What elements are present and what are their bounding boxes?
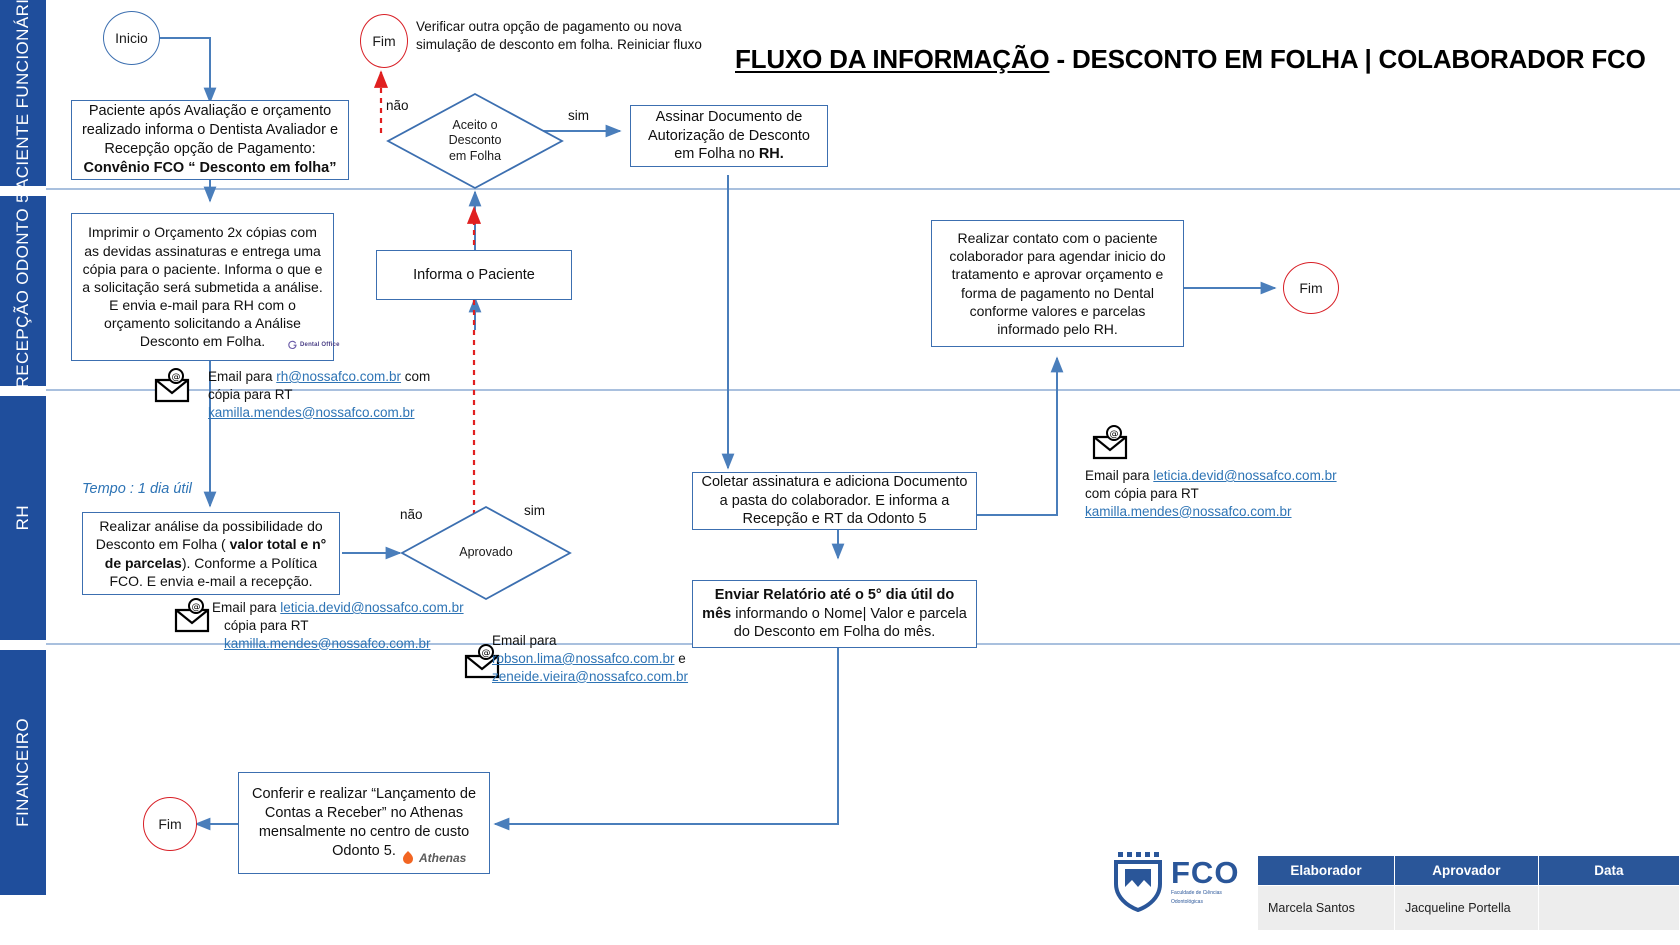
dental-office-mark [287, 340, 297, 350]
email-note-mid: com cópia para RT [1085, 486, 1199, 501]
label-tempo-1-dia-util: Tempo : 1 dia útil [82, 481, 192, 497]
note-text: Verificar outra opção de pagamento ou no… [416, 19, 702, 52]
process-imprimir-orcamento[interactable]: Imprimir o Orçamento 2x cópias com as de… [71, 213, 334, 361]
svg-text:@: @ [172, 373, 181, 383]
fco-shield-icon [1112, 850, 1164, 912]
athenas-logo: Athenas [400, 850, 466, 866]
process-informa-o-paciente[interactable]: Informa o Paciente [376, 250, 572, 300]
end-terminator-fim-top[interactable]: Fim [360, 14, 408, 68]
process-realizar-contato-paciente[interactable]: Realizar contato com o paciente colabora… [931, 220, 1184, 347]
decision-label: Aprovado [400, 505, 572, 601]
page-title-rest: - DESCONTO EM FOLHA | COLABORADOR FCO [1049, 44, 1645, 74]
process-coletar-assinatura[interactable]: Coletar assinatura e adiciona Documento … [692, 472, 977, 530]
email-icon: @ [152, 368, 192, 404]
terminator-label: Fim [1299, 280, 1322, 296]
lane-header-recepcao-odonto-5: RECEPÇÃO ODONTO 5 [0, 196, 46, 386]
lane-header-rh: RH [0, 396, 46, 640]
process-text: informando o Nome| Valor e parcela do De… [734, 606, 967, 641]
fco-wordmark: FCO [1171, 857, 1239, 888]
process-text-bold: Convênio FCO “ Desconto em folha” [84, 160, 337, 176]
decision-line-1: Aceito o [449, 118, 502, 134]
lane-label: PACIENTE FUNCIONÁRIO [13, 0, 33, 201]
email-note-prefix: Email para [208, 369, 276, 384]
svg-text:@: @ [1110, 430, 1119, 440]
terminator-label: Inicio [115, 30, 148, 46]
email-address-link-2[interactable]: kamilla.mendes@nossafco.com.br [1085, 504, 1292, 519]
decision-aprovado[interactable]: Aprovado [400, 505, 572, 601]
note-email-rh: Email para rh@nossafco.com.br com cópia … [208, 368, 440, 421]
note-email-leticia-right: Email para leticia.devid@nossafco.com.br… [1085, 467, 1395, 520]
process-text: Imprimir o Orçamento 2x cópias com as de… [80, 223, 325, 350]
dental-office-logo: Dental Office [287, 340, 340, 350]
email-address-link-2[interactable]: kamilla.mendes@nossafco.com.br [212, 636, 431, 651]
email-address-link[interactable]: rh@nossafco.com.br [276, 369, 401, 384]
process-text-bold: RH. [759, 146, 784, 162]
svg-text:@: @ [192, 603, 201, 613]
decision-aceito-desconto-em-folha[interactable]: Aceito o Desconto em Folha [386, 92, 564, 190]
email-note-prefix: Email para [492, 633, 557, 648]
flowchart-canvas: PACIENTE FUNCIONÁRIO RECEPÇÃO ODONTO 5 R… [0, 0, 1680, 945]
end-terminator-fim-bottom[interactable]: Fim [143, 797, 197, 851]
decision-line-3: em Folha [449, 149, 502, 165]
dental-office-label: Dental Office [300, 342, 340, 348]
fco-subtitle-1: Faculdade de Ciências [1171, 890, 1239, 896]
lane-label: RECEPÇÃO ODONTO 5 [13, 193, 33, 388]
signature-table: Elaborador Aprovador Data Marcela Santos… [1257, 855, 1680, 931]
cell-data[interactable] [1538, 886, 1679, 931]
athenas-mark [400, 850, 416, 866]
decision-label: Aceito o Desconto em Folha [386, 92, 564, 190]
process-text: Informa o Paciente [385, 266, 563, 285]
table-row: Marcela Santos Jacqueline Portella [1258, 886, 1680, 931]
lane-label: FINANCEIRO [13, 718, 33, 827]
email-icon: @ [1090, 425, 1130, 461]
column-header-elaborador: Elaborador [1258, 856, 1395, 886]
terminator-label: Fim [372, 33, 395, 49]
column-header-aprovador: Aprovador [1394, 856, 1538, 886]
email-note-mid: e [675, 651, 686, 666]
note-verificar-outra-opcao: Verificar outra opção de pagamento ou no… [416, 18, 706, 54]
page-title-underlined: FLUXO DA INFORMAÇÃO [735, 44, 1049, 74]
process-enviar-relatorio[interactable]: Enviar Relatório até o 5° dia útil do mê… [692, 580, 977, 648]
process-assinar-documento-autorizacao[interactable]: Assinar Documento de Autorização de Desc… [630, 105, 828, 167]
note-email-leticia-rh: Email para leticia.devid@nossafco.com.br… [212, 599, 492, 652]
process-paciente-apos-avaliacao[interactable]: Paciente após Avaliação e orçamento real… [71, 100, 349, 180]
email-note-prefix: Email para [1085, 468, 1153, 483]
svg-text:@: @ [482, 649, 491, 659]
athenas-label: Athenas [419, 851, 466, 865]
start-terminator-inicio[interactable]: Inicio [103, 11, 160, 65]
email-address-link-2[interactable]: kamilla.mendes@nossafco.com.br [208, 405, 415, 420]
email-note-mid: cópia para RT [212, 618, 309, 633]
table-header-row: Elaborador Aprovador Data [1258, 856, 1680, 886]
process-text: Realizar contato com o paciente colabora… [940, 229, 1175, 338]
edge-label-sim-top: sim [568, 108, 589, 123]
page-title: FLUXO DA INFORMAÇÃO - DESCONTO EM FOLHA … [735, 44, 1646, 75]
lane-header-paciente-funcionario: PACIENTE FUNCIONÁRIO [0, 0, 46, 186]
lane-divider-1 [46, 188, 1680, 190]
email-address-link[interactable]: leticia.devid@nossafco.com.br [1153, 468, 1336, 483]
process-realizar-analise-desconto[interactable]: Realizar análise da possibilidade do Des… [82, 512, 340, 595]
fco-logo: FCO Faculdade de Ciências Odontológicas [1112, 850, 1239, 912]
terminator-label: Fim [158, 816, 181, 832]
tempo-text: Tempo : 1 dia útil [82, 481, 192, 497]
decision-line-2: Desconto [449, 133, 502, 149]
cell-elaborador[interactable]: Marcela Santos [1258, 886, 1395, 931]
cell-aprovador[interactable]: Jacqueline Portella [1394, 886, 1538, 931]
process-text: Assinar Documento de Autorização de Desc… [648, 109, 810, 163]
email-address-link[interactable]: leticia.devid@nossafco.com.br [280, 600, 463, 615]
process-text: Coletar assinatura e adiciona Documento … [701, 473, 968, 530]
email-note-prefix: Email para [212, 600, 280, 615]
email-address-link[interactable]: robson.lima@nossafco.com.br [492, 651, 675, 666]
fco-subtitle-2: Odontológicas [1171, 899, 1239, 905]
lane-header-financeiro: FINANCEIRO [0, 650, 46, 895]
email-icon: @ [172, 598, 212, 634]
column-header-data: Data [1538, 856, 1679, 886]
process-text: Paciente após Avaliação e orçamento real… [82, 103, 338, 157]
end-terminator-fim-right[interactable]: Fim [1283, 262, 1339, 314]
email-address-link-2[interactable]: zeneide.vieira@nossafco.com.br [492, 669, 688, 684]
lane-label: RH [13, 505, 33, 530]
edge-label-text: sim [568, 108, 589, 123]
